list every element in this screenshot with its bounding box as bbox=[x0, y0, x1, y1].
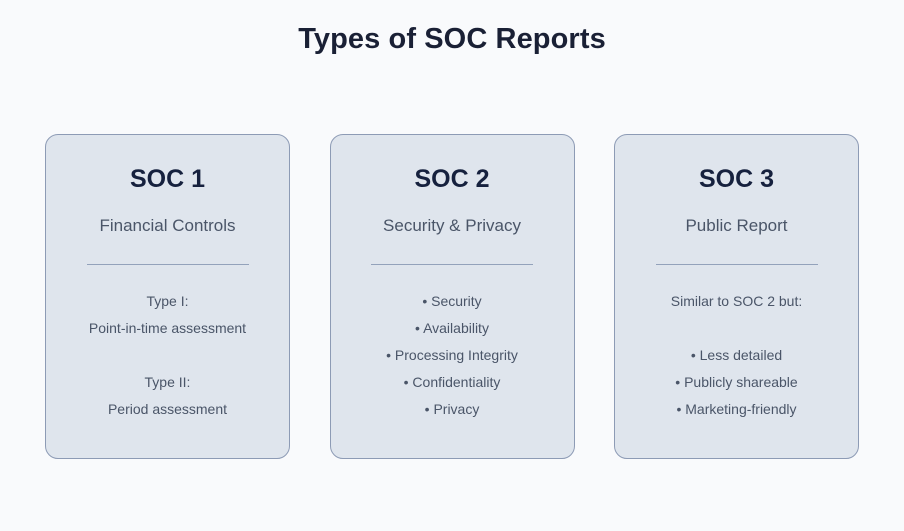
body-line: • Confidentiality bbox=[345, 369, 560, 396]
card-title: SOC 3 bbox=[699, 157, 774, 194]
body-line: • Security bbox=[345, 288, 560, 315]
card-body: Type I:Point-in-time assessment Type II:… bbox=[60, 265, 275, 423]
card-subtitle: Financial Controls bbox=[99, 194, 235, 237]
body-line: • Publicly shareable bbox=[629, 369, 844, 396]
body-line-spacer bbox=[629, 315, 844, 342]
soc-reports-infographic: Types of SOC Reports SOC 1 Financial Con… bbox=[0, 0, 904, 531]
body-line: Type I: bbox=[60, 288, 275, 315]
body-line: • Privacy bbox=[345, 396, 560, 423]
soc-card-3: SOC 3 Public Report Similar to SOC 2 but… bbox=[614, 134, 859, 459]
soc-cards-row: SOC 1 Financial Controls Type I:Point-in… bbox=[45, 134, 859, 459]
card-body: • Security• Availability• Processing Int… bbox=[345, 265, 560, 423]
card-subtitle: Security & Privacy bbox=[383, 194, 521, 237]
card-title: SOC 2 bbox=[414, 157, 489, 194]
card-title: SOC 1 bbox=[130, 157, 205, 194]
page-title: Types of SOC Reports bbox=[0, 0, 904, 57]
body-line-spacer bbox=[60, 342, 275, 369]
card-subtitle: Public Report bbox=[685, 194, 787, 237]
soc-card-1: SOC 1 Financial Controls Type I:Point-in… bbox=[45, 134, 290, 459]
card-body: Similar to SOC 2 but: • Less detailed• P… bbox=[629, 265, 844, 423]
body-line: Point-in-time assessment bbox=[60, 315, 275, 342]
soc-card-2: SOC 2 Security & Privacy • Security• Ava… bbox=[330, 134, 575, 459]
body-line: • Availability bbox=[345, 315, 560, 342]
body-line: • Less detailed bbox=[629, 342, 844, 369]
body-line: Similar to SOC 2 but: bbox=[629, 288, 844, 315]
body-line: Period assessment bbox=[60, 396, 275, 423]
body-line: • Processing Integrity bbox=[345, 342, 560, 369]
body-line: Type II: bbox=[60, 369, 275, 396]
body-line: • Marketing-friendly bbox=[629, 396, 844, 423]
